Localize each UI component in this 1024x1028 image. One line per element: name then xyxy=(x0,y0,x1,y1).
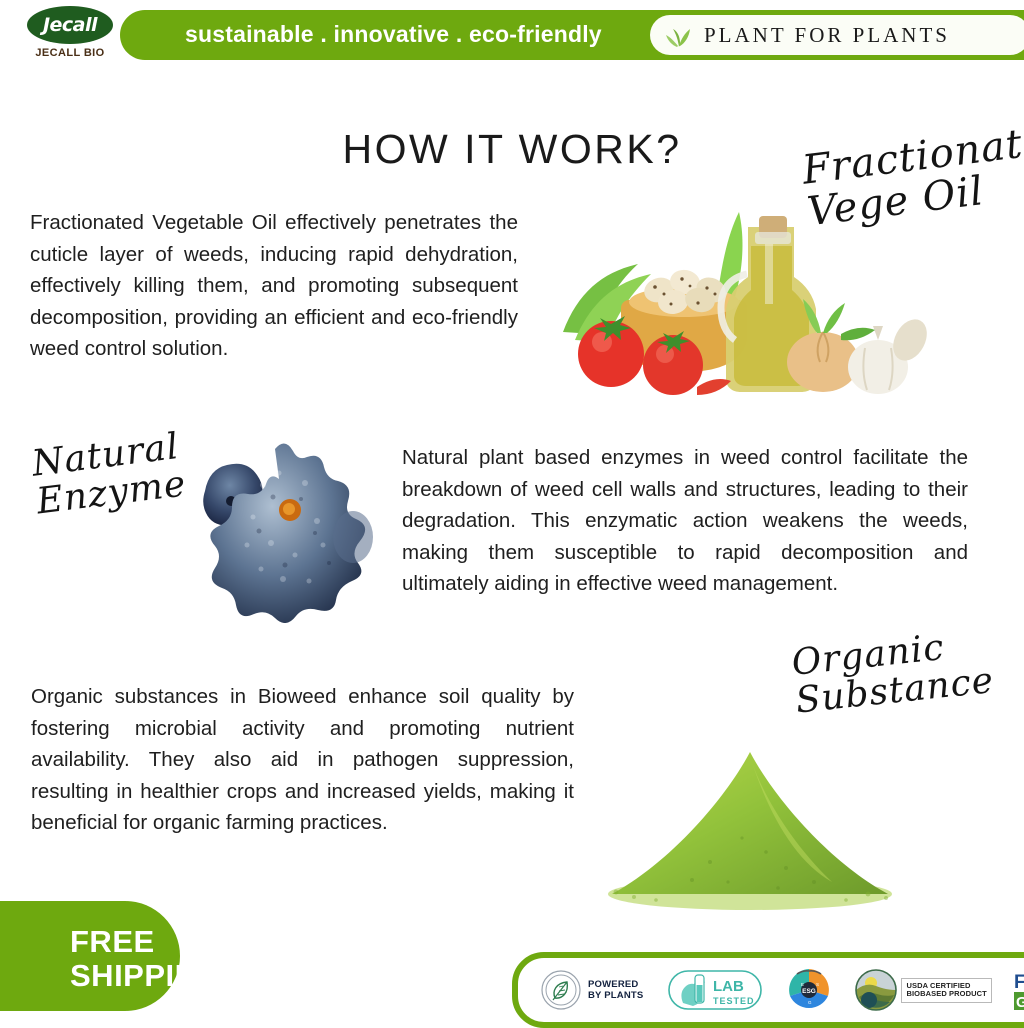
free-shipping-line-1: FREE xyxy=(70,925,222,959)
section-2-body: Natural plant based enzymes in weed cont… xyxy=(402,442,968,600)
header-green-bar: sustainable . innovative . eco-friendly … xyxy=(120,10,1024,60)
cert-powered-by-plants-label: POWERED BY PLANTS xyxy=(588,979,643,1001)
plant-for-plants-label: PLANT FOR PLANTS xyxy=(704,23,950,48)
cert-usda-biobased: USDA CERTIFIED BIOBASED PRODUCT xyxy=(855,964,991,1016)
certification-strip: POWERED BY PLANTS LAB TESTED ESG xyxy=(512,952,1024,1028)
cert-fda-gras: FDA GRAS GENERALLY RECOGNIZED AS SAFE xyxy=(1012,964,1024,1016)
svg-text:S: S xyxy=(816,982,819,987)
free-shipping-label: FREE SHIPPING xyxy=(70,925,222,993)
jecall-logo-text: Jecall xyxy=(43,14,97,36)
svg-text:GRAS: GRAS xyxy=(1016,994,1024,1011)
svg-text:G: G xyxy=(808,1000,812,1005)
plant-for-plants-badge: PLANT FOR PLANTS xyxy=(650,15,1024,55)
cert-line-1: POWERED xyxy=(588,979,643,990)
enzyme-molecule-illustration xyxy=(183,433,383,623)
fda-gras-icon: FDA GRAS GENERALLY RECOGNIZED AS SAFE xyxy=(1012,967,1024,1013)
lab-tested-icon: LAB TESTED xyxy=(667,967,763,1013)
cert-lab-tested: LAB TESTED xyxy=(667,964,763,1016)
green-powder-illustration xyxy=(600,742,900,922)
cert-usda-label: USDA CERTIFIED BIOBASED PRODUCT xyxy=(901,978,991,1003)
leaf-icon xyxy=(664,20,694,50)
svg-text:LAB: LAB xyxy=(713,978,744,995)
cert-usda-line-2: BIOBASED PRODUCT xyxy=(906,990,986,999)
cert-esg-wheel: ESG E S G xyxy=(785,964,833,1016)
section-1-body: Fractionated Vegetable Oil effectively p… xyxy=(30,207,518,365)
header-tagline: sustainable . innovative . eco-friendly xyxy=(185,21,602,48)
cert-line-2: BY PLANTS xyxy=(588,990,643,1001)
svg-text:ESG: ESG xyxy=(803,988,817,995)
section-3-body: Organic substances in Bioweed enhance so… xyxy=(31,681,574,839)
jecall-logo: Jecall JECALL BIO xyxy=(22,6,118,59)
enzyme-molecule-photo xyxy=(183,433,383,623)
usda-biobased-icon xyxy=(855,969,897,1011)
section-3-script-label: Organic Substance xyxy=(790,622,1017,720)
cert-powered-by-plants: POWERED BY PLANTS xyxy=(540,964,643,1016)
free-shipping-line-2: SHIPPING xyxy=(70,959,222,993)
leaf-circle-icon xyxy=(540,969,582,1011)
svg-text:FDA: FDA xyxy=(1014,972,1024,993)
svg-text:E: E xyxy=(801,982,804,987)
jecall-logo-subtext: JECALL BIO xyxy=(22,47,118,59)
jecall-logo-mark: Jecall xyxy=(27,6,113,44)
esg-wheel-icon: ESG E S G xyxy=(785,966,833,1014)
svg-text:TESTED: TESTED xyxy=(713,996,755,1006)
green-powder-photo xyxy=(600,742,900,922)
infographic-page: Jecall JECALL BIO sustainable . innovati… xyxy=(0,0,1024,1024)
page-header: Jecall JECALL BIO sustainable . innovati… xyxy=(0,0,1024,70)
